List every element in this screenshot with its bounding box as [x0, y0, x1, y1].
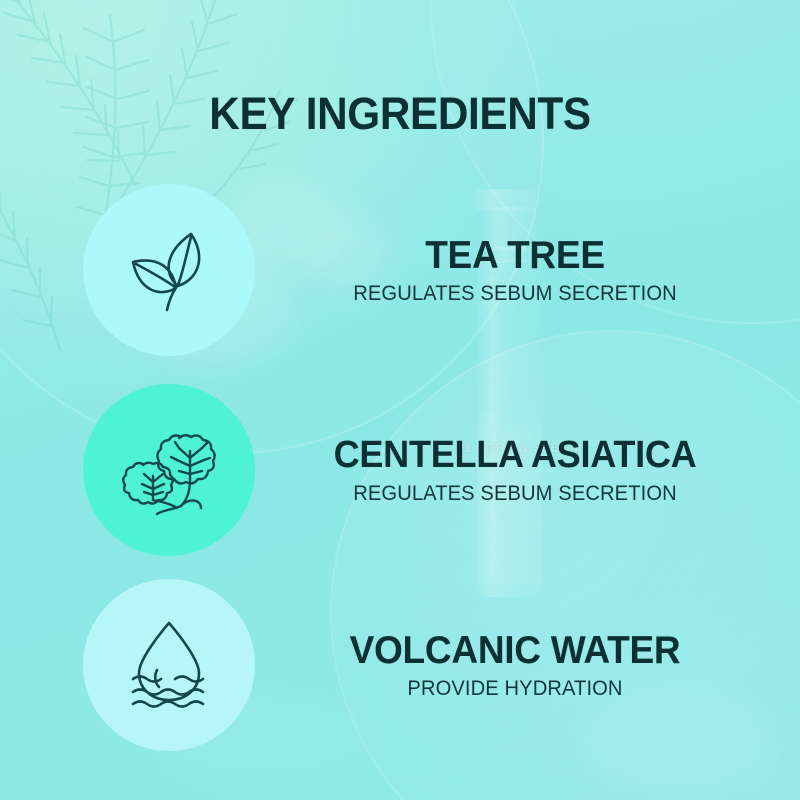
ingredient-text-tea-tree: TEA TREE REGULATES SEBUM SECRETION — [285, 234, 745, 307]
ingredient-name: VOLCANIC WATER — [297, 629, 734, 673]
ingredient-row-volcanic-water: VOLCANIC WATER PROVIDE HYDRATION — [0, 575, 800, 755]
ingredient-description: REGULATES SEBUM SECRETION — [294, 481, 736, 506]
ingredient-text-centella-asiatica: CENTELLA ASIATICA REGULATES SEBUM SECRET… — [285, 434, 745, 506]
ingredient-name: TEA TREE — [297, 234, 734, 278]
ingredient-description: PROVIDE HYDRATION — [294, 676, 736, 701]
ingredient-badge-tea-tree — [83, 184, 255, 356]
key-ingredients-poster: 01 PORE & SEBUM Minimize enlarged pores … — [0, 0, 800, 800]
ingredient-badge-centella-asiatica — [83, 384, 255, 556]
ingredient-row-tea-tree: TEA TREE REGULATES SEBUM SECRETION — [0, 180, 800, 360]
poster-content: KEY INGREDIENTS — [0, 0, 800, 800]
ingredient-badge-volcanic-water — [83, 579, 255, 751]
water-drop-icon — [117, 613, 221, 717]
ingredient-description: REGULATES SEBUM SECRETION — [294, 281, 736, 306]
tea-leaves-icon — [117, 218, 221, 322]
centella-leaves-icon — [117, 418, 221, 522]
page-title: KEY INGREDIENTS — [24, 88, 776, 140]
ingredient-text-volcanic-water: VOLCANIC WATER PROVIDE HYDRATION — [285, 629, 745, 702]
ingredient-row-centella-asiatica: CENTELLA ASIATICA REGULATES SEBUM SECRET… — [0, 380, 800, 560]
ingredient-name: CENTELLA ASIATICA — [297, 434, 734, 477]
